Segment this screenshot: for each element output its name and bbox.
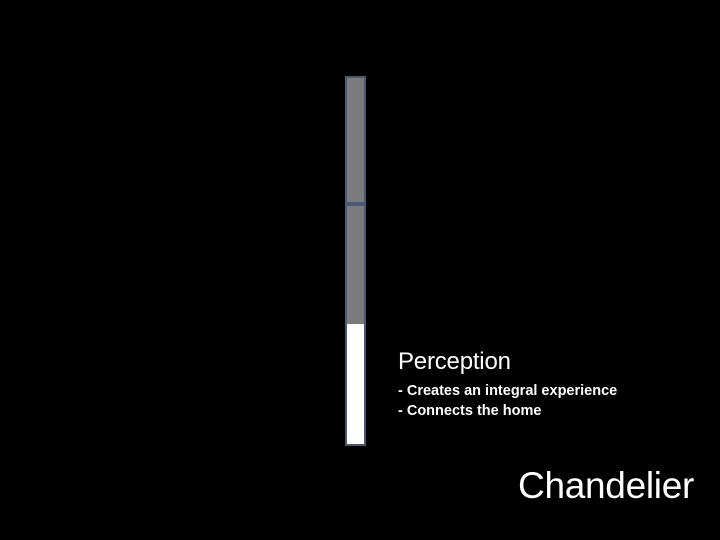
annotation-bullet-item: - Creates an integral experience	[398, 381, 698, 401]
annotation-bullet-item: - Connects the home	[398, 401, 698, 421]
annotation-heading: Perception	[398, 348, 698, 375]
slide-canvas: Perception - Creates an integral experie…	[0, 0, 720, 540]
bar-segment-lit-section	[347, 324, 364, 444]
bar-segment-upper-shaft	[347, 78, 364, 202]
slide-title: Chandelier	[518, 465, 694, 506]
annotation-bullet-list: - Creates an integral experience - Conne…	[398, 381, 698, 421]
bar-segment-middle-shaft	[347, 206, 364, 324]
vertical-light-bar-graphic	[345, 76, 366, 446]
annotation-block: Perception - Creates an integral experie…	[398, 348, 698, 421]
